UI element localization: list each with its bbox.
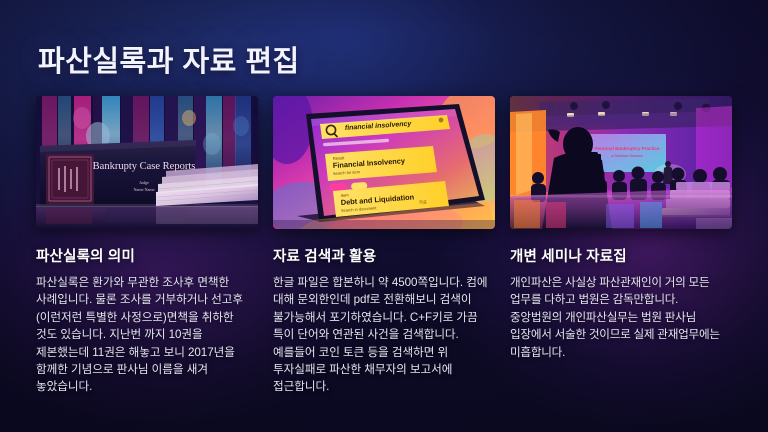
tablet-search-screen-photo: financial insolvency Result Financial In…	[273, 96, 495, 229]
svg-text:Judge: Judge	[139, 180, 149, 185]
card-title: 개변 세미나 자료집	[510, 245, 732, 266]
card-body: 한글 파일은 합본하니 약 4500쪽입니다. 컴에 대해 문외한인데 pdf로…	[273, 274, 495, 396]
card-item: Bankrupty Case Reports Judge Name Name	[36, 96, 258, 396]
card-item: Personal Bankruptcy Practice a Seminar S…	[510, 96, 732, 396]
card-row: Bankrupty Case Reports Judge Name Name	[36, 96, 732, 396]
svg-text:Personal Bankruptcy Practice: Personal Bankruptcy Practice	[594, 146, 660, 151]
presentation-slide: 파산실록과 자료 편집	[0, 0, 768, 432]
card-title: 자료 검색과 활용	[273, 245, 495, 266]
tablet-photo-illustration: financial insolvency Result Financial In…	[273, 96, 495, 229]
card-title: 파산실록의 의미	[36, 245, 258, 266]
svg-text:Name Name: Name Name	[133, 187, 154, 192]
bankruptcy-case-reports-book-photo: Bankrupty Case Reports Judge Name Name	[36, 96, 258, 229]
svg-text:a Seminar Session: a Seminar Session	[611, 154, 643, 158]
card-body: 개인파산은 사실상 파산관재인이 거의 모든 업무를 다하고 법원은 감독만합니…	[510, 274, 732, 361]
seminar-auditorium-photo: Personal Bankruptcy Practice a Seminar S…	[510, 96, 732, 229]
seminar-photo-illustration: Personal Bankruptcy Practice a Seminar S…	[510, 96, 732, 229]
card-item: financial insolvency Result Financial In…	[273, 96, 495, 396]
card-body: 파산실록은 환가와 무관한 조사후 면책한 사례입니다. 물론 조사를 거부하거…	[36, 274, 258, 396]
book-photo-illustration: Bankrupty Case Reports Judge Name Name	[36, 96, 258, 229]
page-title: 파산실록과 자료 편집	[38, 38, 300, 80]
